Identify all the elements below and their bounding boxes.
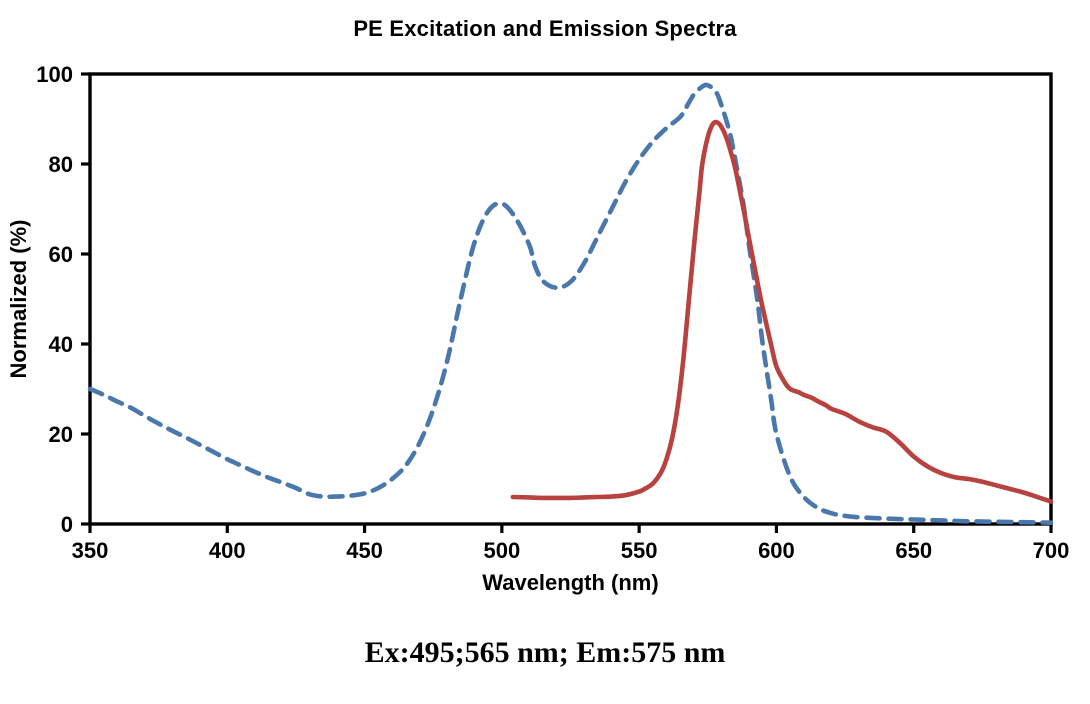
x-tick-label: 600 [758, 538, 795, 563]
x-tick-label: 400 [209, 538, 246, 563]
series-layer [90, 85, 1051, 523]
x-tick-label: 550 [621, 538, 658, 563]
plot-frame [90, 74, 1051, 524]
y-axis-title: Normalized (%) [6, 220, 31, 379]
y-tick-label: 0 [61, 512, 73, 537]
axis-layer [81, 74, 1051, 533]
series-line-emission [513, 122, 1051, 501]
spectra-plot: 350400450500550600650700020406080100Wave… [0, 0, 1090, 704]
y-tick-label: 40 [49, 332, 73, 357]
y-tick-label: 100 [36, 62, 73, 87]
x-tick-label: 650 [895, 538, 932, 563]
y-tick-label: 60 [49, 242, 73, 267]
y-tick-label: 20 [49, 422, 73, 447]
x-tick-label: 500 [483, 538, 520, 563]
spectra-figure: PE Excitation and Emission Spectra 35040… [0, 0, 1090, 704]
label-layer: 350400450500550600650700020406080100Wave… [6, 62, 1069, 595]
x-tick-label: 700 [1033, 538, 1070, 563]
x-tick-label: 350 [72, 538, 109, 563]
x-axis-title: Wavelength (nm) [482, 570, 658, 595]
y-tick-label: 80 [49, 152, 73, 177]
x-tick-label: 450 [346, 538, 383, 563]
series-line-excitation [90, 85, 1051, 523]
chart-caption: Ex:495;565 nm; Em:575 nm [0, 636, 1090, 670]
